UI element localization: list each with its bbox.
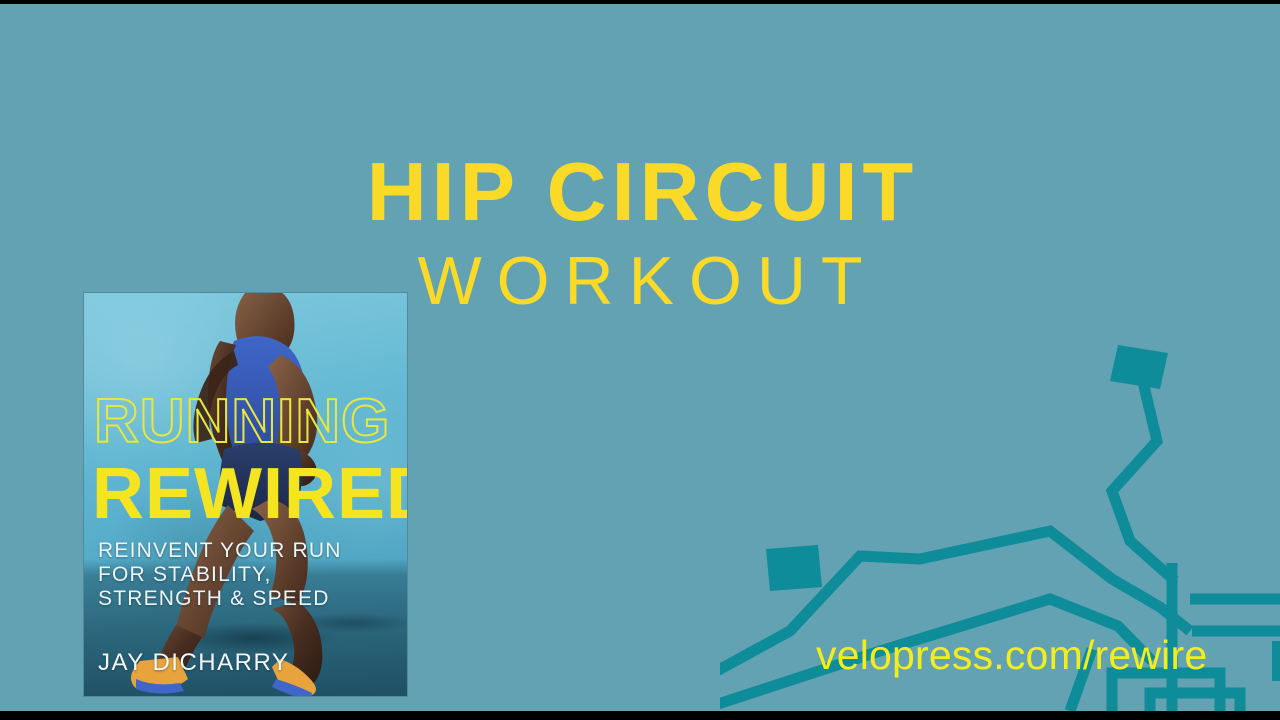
circuit-pad-center-left bbox=[766, 545, 822, 591]
book-typography: RUNNING REWIRED REINVENT YOUR RUN FOR ST… bbox=[84, 293, 407, 696]
book-title-outline: RUNNING bbox=[94, 391, 390, 453]
slide-stage: HIP CIRCUIT WORKOUT bbox=[0, 4, 1280, 711]
letterbox-bar-bottom bbox=[0, 711, 1280, 720]
book-subtitle: REINVENT YOUR RUN FOR STABILITY, STRENGT… bbox=[98, 539, 342, 611]
letterbox-bar-top bbox=[0, 0, 1280, 4]
website-url[interactable]: velopress.com/rewire bbox=[816, 633, 1207, 677]
slide-canvas: HIP CIRCUIT WORKOUT bbox=[0, 0, 1280, 720]
book-title-solid: REWIRED bbox=[92, 458, 407, 530]
circuit-pad-top-right bbox=[1110, 345, 1168, 389]
page-title: HIP CIRCUIT bbox=[0, 4, 1280, 236]
circuit-pad-right-edge bbox=[1272, 641, 1280, 681]
headline-block: HIP CIRCUIT WORKOUT bbox=[0, 4, 1280, 316]
book-cover: RUNNING REWIRED REINVENT YOUR RUN FOR ST… bbox=[84, 293, 407, 696]
circuit-trace-8 bbox=[1150, 693, 1240, 711]
book-author: JAY DICHARRY bbox=[98, 650, 289, 676]
circuit-trace-1 bbox=[1112, 361, 1175, 581]
